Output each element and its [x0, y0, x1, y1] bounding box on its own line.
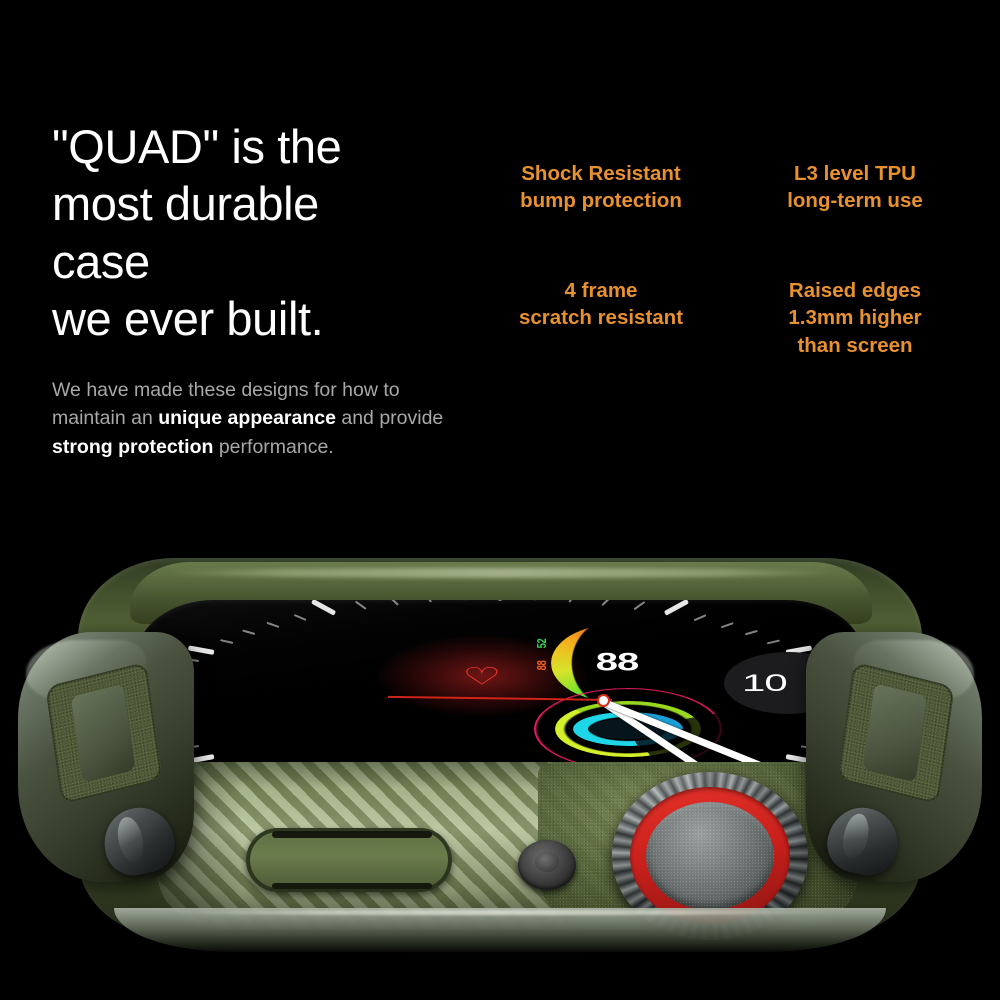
- page-title: "QUAD" is the most durable case we ever …: [52, 118, 472, 347]
- feature-line: 1.3mm higher: [732, 304, 978, 331]
- date-number: 10: [742, 669, 787, 697]
- headline-block: "QUAD" is the most durable case we ever …: [52, 118, 472, 347]
- subcopy-part-2: and provide: [336, 407, 443, 429]
- watch-case-shell: ♡ 52 88 88: [18, 540, 982, 938]
- headline-line-4: we ever built.: [52, 290, 472, 347]
- product-image: ♡ 52 88 88: [0, 505, 1000, 975]
- subcopy-part-3: performance.: [213, 436, 333, 458]
- corner-bumper-left: [18, 632, 194, 882]
- ring-label-high: 52: [534, 639, 549, 649]
- headline-line-1: "QUAD" is the: [52, 118, 472, 175]
- crown-face: [646, 802, 774, 910]
- feature-line: scratch resistant: [478, 304, 724, 331]
- feature-line: than screen: [732, 332, 978, 359]
- side-button: [518, 840, 576, 890]
- headline-line-2: most durable: [52, 175, 472, 232]
- ring-value: 88: [551, 649, 683, 677]
- ring-label-low: 88: [534, 661, 549, 671]
- feature-line: Raised edges: [732, 277, 978, 304]
- case-bottom-rim: [114, 908, 886, 952]
- hands-center-cap: [597, 694, 610, 707]
- watch-face: ♡ 52 88 88: [136, 600, 864, 768]
- feature-callouts: Shock Resistant bump protection L3 level…: [478, 160, 978, 359]
- speaker-grille: [246, 828, 452, 892]
- feature-line: bump protection: [478, 187, 724, 214]
- feature-l3-tpu: L3 level TPU long-term use: [732, 160, 978, 215]
- subcopy-bold-2: strong protection: [52, 436, 213, 458]
- feature-line: Shock Resistant: [478, 160, 724, 187]
- feature-line: 4 frame: [478, 277, 724, 304]
- feature-line: L3 level TPU: [732, 160, 978, 187]
- bumper-grip-cutout: [71, 684, 135, 783]
- corner-bumper-right: [806, 632, 982, 882]
- heart-icon: ♡: [434, 666, 530, 690]
- bumper-grip-texture: [45, 662, 162, 805]
- bumper-grip-cutout: [863, 683, 927, 782]
- feature-shock-resistant: Shock Resistant bump protection: [478, 160, 724, 215]
- subcopy: We have made these designs for how to ma…: [52, 376, 452, 461]
- feature-4-frame: 4 frame scratch resistant: [478, 277, 724, 359]
- product-banner: "QUAD" is the most durable case we ever …: [0, 0, 1000, 1000]
- bumper-grip-texture: [837, 662, 954, 805]
- headline-line-3: case: [52, 233, 472, 290]
- watch-screen: ♡ 52 88 88: [136, 600, 864, 768]
- feature-line: long-term use: [732, 187, 978, 214]
- subcopy-bold-1: unique appearance: [158, 407, 336, 429]
- feature-raised-edges: Raised edges 1.3mm higher than screen: [732, 277, 978, 359]
